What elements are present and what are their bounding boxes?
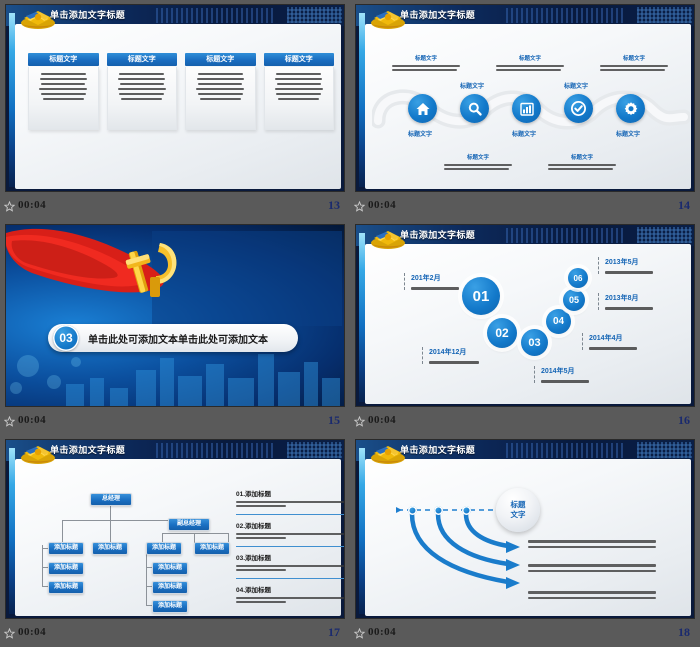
slide-title: 单击添加文字标题: [50, 443, 125, 456]
org-box-r1a[interactable]: 添加标题: [152, 562, 188, 575]
card-1[interactable]: 标题文字: [28, 53, 99, 130]
icon-circle-search[interactable]: [460, 94, 489, 123]
timeline-info-06: 2013年5月: [598, 257, 657, 274]
detail-item-1: 01.添加标题: [236, 488, 344, 507]
detail-item-4: 04.添加标题: [236, 584, 344, 603]
timeline-info-05: 2013年8月: [598, 293, 657, 310]
org-box-r1c[interactable]: 添加标题: [152, 600, 188, 613]
slide-18[interactable]: 单击添加文字标题 标题 文字: [356, 440, 694, 618]
page-number: 16: [678, 413, 690, 428]
bottom-block-1: 标题文字: [444, 153, 512, 172]
star-icon: [4, 416, 15, 427]
icon-circle-home[interactable]: [408, 94, 437, 123]
org-box-r1b[interactable]: 添加标题: [152, 581, 188, 594]
slide-footer-18: 00:04 18: [350, 621, 700, 647]
card-header: 标题文字: [264, 53, 335, 66]
icon-label-chart: 标题文字: [512, 129, 536, 138]
timeline-node-06[interactable]: 06: [568, 268, 588, 288]
org-connector: [162, 533, 228, 534]
section-text: 单击此处可添加文本单击此处可添加文本: [88, 331, 268, 346]
org-box-l1[interactable]: 添加标题: [48, 542, 84, 555]
detail-item-2: 02.添加标题: [236, 520, 344, 539]
slide-footer-14: 00:04 14: [350, 194, 700, 220]
org-connector: [42, 545, 43, 587]
detail-heading: 02.添加标题: [236, 520, 344, 530]
org-box-l2[interactable]: 添加标题: [92, 542, 128, 555]
page-number: 14: [678, 198, 690, 213]
sphere-line-2: 文字: [511, 510, 526, 520]
timeline-info-02: 2014年12月: [422, 347, 483, 364]
left-accent-rail: [359, 13, 365, 187]
slide-cell-18[interactable]: 单击添加文字标题 标题 文字: [350, 435, 700, 647]
icon-circle-check[interactable]: [564, 94, 593, 123]
page-number: 15: [328, 413, 340, 428]
card-body: [185, 67, 256, 130]
bottom-block-label: 标题文字: [548, 153, 616, 161]
search-icon: [467, 101, 483, 117]
card-2[interactable]: 标题文字: [107, 53, 178, 130]
card-header: 标题文字: [107, 53, 178, 66]
timer-label: 00:04: [18, 414, 46, 426]
star-icon: [354, 628, 365, 639]
slide-cell-16[interactable]: 单击添加文字标题 01 02 03 04 05 06 201年2月 2014年1…: [350, 220, 700, 435]
slide-cell-13[interactable]: 单击添加文字标题 标题文字 标题文字: [0, 0, 350, 220]
icon-label-check: 标题文字: [564, 81, 588, 90]
card-header: 标题文字: [28, 53, 99, 66]
timeline-info-04: 2014年4月: [582, 333, 641, 350]
detail-heading: 03.添加标题: [236, 552, 344, 562]
left-accent-rail: [359, 448, 365, 614]
card-header: 标题文字: [185, 53, 256, 66]
slide-title: 单击添加文字标题: [400, 228, 475, 241]
slide-cell-17[interactable]: 单击添加文字标题 总经理 副总经理 添加标题 添加标题 添加标题: [0, 435, 350, 647]
slide-footer-16: 00:04 16: [350, 409, 700, 435]
check-circle-icon: [570, 100, 587, 117]
left-accent-rail: [359, 233, 365, 402]
slide-cell-15[interactable]: 03 单击此处可添加文本单击此处可添加文本 00:04 15: [0, 220, 350, 435]
timeline-node-03[interactable]: 03: [521, 329, 548, 356]
arrow-node-1[interactable]: [408, 506, 417, 515]
icon-label-search: 标题文字: [460, 81, 484, 90]
slide-15[interactable]: 03 单击此处可添加文本单击此处可添加文本: [6, 225, 344, 406]
city-skyline-icon: [6, 344, 344, 406]
slide-title: 单击添加文字标题: [400, 8, 475, 21]
top-block-label: 标题文字: [496, 54, 564, 62]
slide-thumbnail-grid: 单击添加文字标题 标题文字 标题文字: [0, 0, 700, 647]
detail-divider: [236, 514, 344, 515]
page-number: 18: [678, 625, 690, 640]
card-4[interactable]: 标题文字: [264, 53, 335, 130]
detail-item-3: 03.添加标题: [236, 552, 344, 571]
slide-title: 单击添加文字标题: [50, 8, 125, 21]
timeline-date: 2014年5月: [541, 366, 593, 376]
top-block-2: 标题文字: [496, 54, 564, 73]
timeline-node-04[interactable]: 04: [546, 309, 571, 334]
timer-label: 00:04: [18, 199, 46, 211]
timer-label: 00:04: [18, 626, 46, 638]
timer-label: 00:04: [368, 199, 396, 211]
timeline-node-01[interactable]: 01: [462, 277, 500, 315]
card-body: [264, 67, 335, 130]
page-number: 17: [328, 625, 340, 640]
timeline-date: 2014年4月: [589, 333, 641, 343]
arrow-text-1: [528, 540, 656, 551]
star-icon: [4, 201, 15, 212]
sphere-line-1: 标题: [511, 500, 526, 510]
section-number: 03: [53, 325, 79, 351]
slide-title: 单击添加文字标题: [400, 443, 475, 456]
home-icon: [415, 101, 431, 117]
detail-divider: [236, 578, 344, 579]
org-box-root[interactable]: 总经理: [90, 493, 132, 506]
bottom-block-label: 标题文字: [444, 153, 512, 161]
slide-17[interactable]: 单击添加文字标题 总经理 副总经理 添加标题 添加标题 添加标题: [6, 440, 344, 618]
org-box-l1a[interactable]: 添加标题: [48, 562, 84, 575]
card-body: [28, 67, 99, 130]
card-row: 标题文字 标题文字 标题文字: [28, 53, 334, 130]
star-icon: [354, 201, 365, 212]
star-icon: [354, 416, 365, 427]
arrow-text-3: [528, 591, 656, 602]
icon-circle-gear[interactable]: [616, 94, 645, 123]
section-pill: 03 单击此处可添加文本单击此处可添加文本: [48, 324, 298, 352]
timer-label: 00:04: [368, 626, 396, 638]
top-block-label: 标题文字: [600, 54, 668, 62]
org-box-l1b[interactable]: 添加标题: [48, 581, 84, 594]
gear-icon: [623, 101, 639, 117]
top-block-label: 标题文字: [392, 54, 460, 62]
org-box-r1[interactable]: 添加标题: [146, 542, 182, 555]
org-detail-list: 01.添加标题 02.添加标题 03.添加标题 04.添加标题: [236, 488, 344, 610]
timeline-node-05[interactable]: 05: [563, 289, 585, 311]
slide-13[interactable]: 单击添加文字标题 标题文字 标题文字: [6, 5, 344, 191]
icon-label-home: 标题文字: [408, 129, 432, 138]
card-3[interactable]: 标题文字: [185, 53, 256, 130]
slide-16[interactable]: 单击添加文字标题 01 02 03 04 05 06 201年2月 2014年1…: [356, 225, 694, 406]
slide-cell-14[interactable]: 单击添加文字标题: [350, 0, 700, 220]
slide-14[interactable]: 单击添加文字标题: [356, 5, 694, 191]
icon-circle-chart[interactable]: [512, 94, 541, 123]
org-connector: [110, 504, 111, 520]
arrow-node-2[interactable]: [434, 506, 443, 515]
timeline-info-03: 2014年5月: [534, 366, 593, 383]
timer-label: 00:04: [368, 414, 396, 426]
org-connector: [146, 550, 147, 606]
detail-heading: 04.添加标题: [236, 584, 344, 594]
org-box-r2[interactable]: 添加标题: [194, 542, 230, 555]
slide-footer-13: 00:04 13: [0, 194, 350, 220]
org-connector: [62, 520, 63, 542]
org-connector: [110, 520, 111, 542]
detail-heading: 01.添加标题: [236, 488, 344, 498]
slide-footer-17: 00:04 17: [0, 621, 350, 647]
party-emblem-icon: [114, 237, 194, 307]
page-number: 13: [328, 198, 340, 213]
timeline-date: 2013年5月: [605, 257, 657, 267]
slide-footer-15: 00:04 15: [0, 409, 350, 435]
left-accent-rail: [9, 448, 15, 614]
org-box-deputy[interactable]: 副总经理: [168, 518, 210, 531]
bar-chart-icon: [519, 101, 535, 117]
timeline-date: 2014年12月: [429, 347, 483, 357]
left-accent-rail: [9, 13, 15, 187]
detail-divider: [236, 546, 344, 547]
top-block-1: 标题文字: [392, 54, 460, 73]
icon-label-gear: 标题文字: [616, 129, 640, 138]
title-sphere[interactable]: 标题 文字: [496, 488, 540, 532]
bottom-block-2: 标题文字: [548, 153, 616, 172]
star-icon: [4, 628, 15, 639]
arrow-text-2: [528, 564, 656, 575]
timeline-node-02[interactable]: 02: [487, 318, 517, 348]
card-body: [107, 67, 178, 130]
top-block-3: 标题文字: [600, 54, 668, 73]
timeline-date: 201年2月: [411, 273, 463, 283]
timeline-date: 2013年8月: [605, 293, 657, 303]
timeline-info-01: 201年2月: [404, 273, 463, 290]
arrow-node-3[interactable]: [462, 506, 471, 515]
